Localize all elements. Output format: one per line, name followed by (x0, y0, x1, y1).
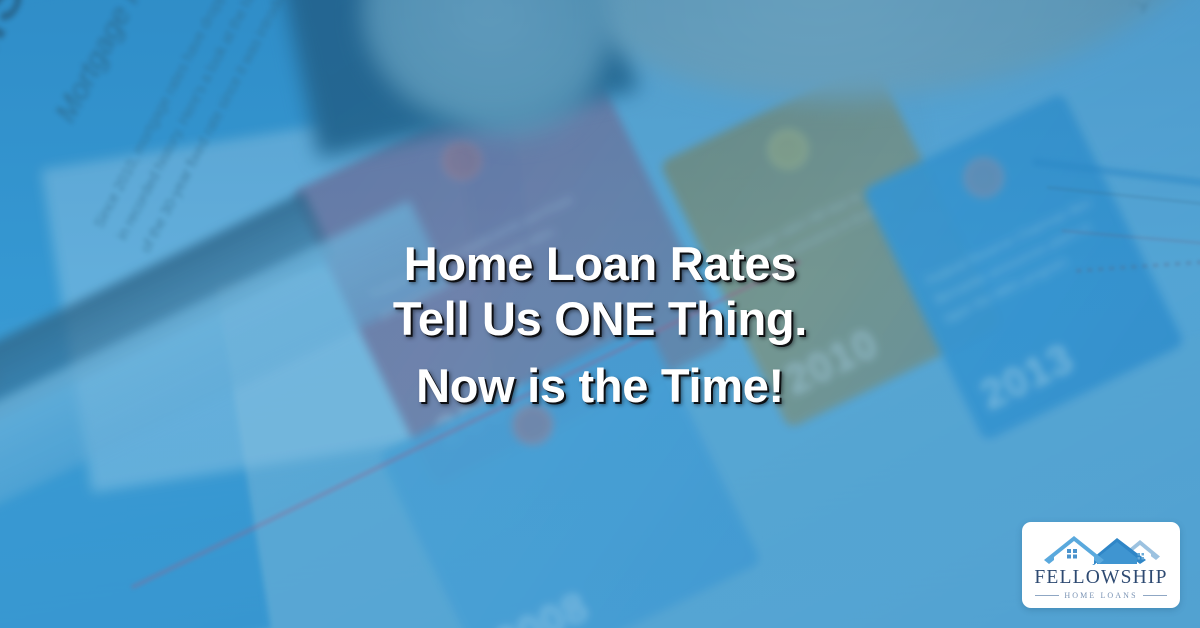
logo-wordmark: FELLOWSHIP (1034, 568, 1167, 588)
house-roofline-icon (1042, 529, 1160, 567)
headline-line-1: Home Loan Rates (0, 236, 1200, 291)
logo-rule-left (1035, 595, 1059, 596)
promo-banner: HISTORY Mortgage Rates Since 2010, mortg… (0, 0, 1200, 628)
headline-line-3: Now is the Time! (0, 358, 1200, 413)
headline-line-2: Tell Us ONE Thing. (0, 291, 1200, 346)
logo-rule-right (1143, 595, 1167, 596)
page-title: Home Loan Rates Tell Us ONE Thing. Now i… (0, 236, 1200, 413)
brand-logo[interactable]: FELLOWSHIP HOME LOANS (1022, 522, 1180, 608)
logo-tagline: HOME LOANS (1064, 592, 1137, 600)
logo-tagline-row: HOME LOANS (1035, 592, 1167, 600)
